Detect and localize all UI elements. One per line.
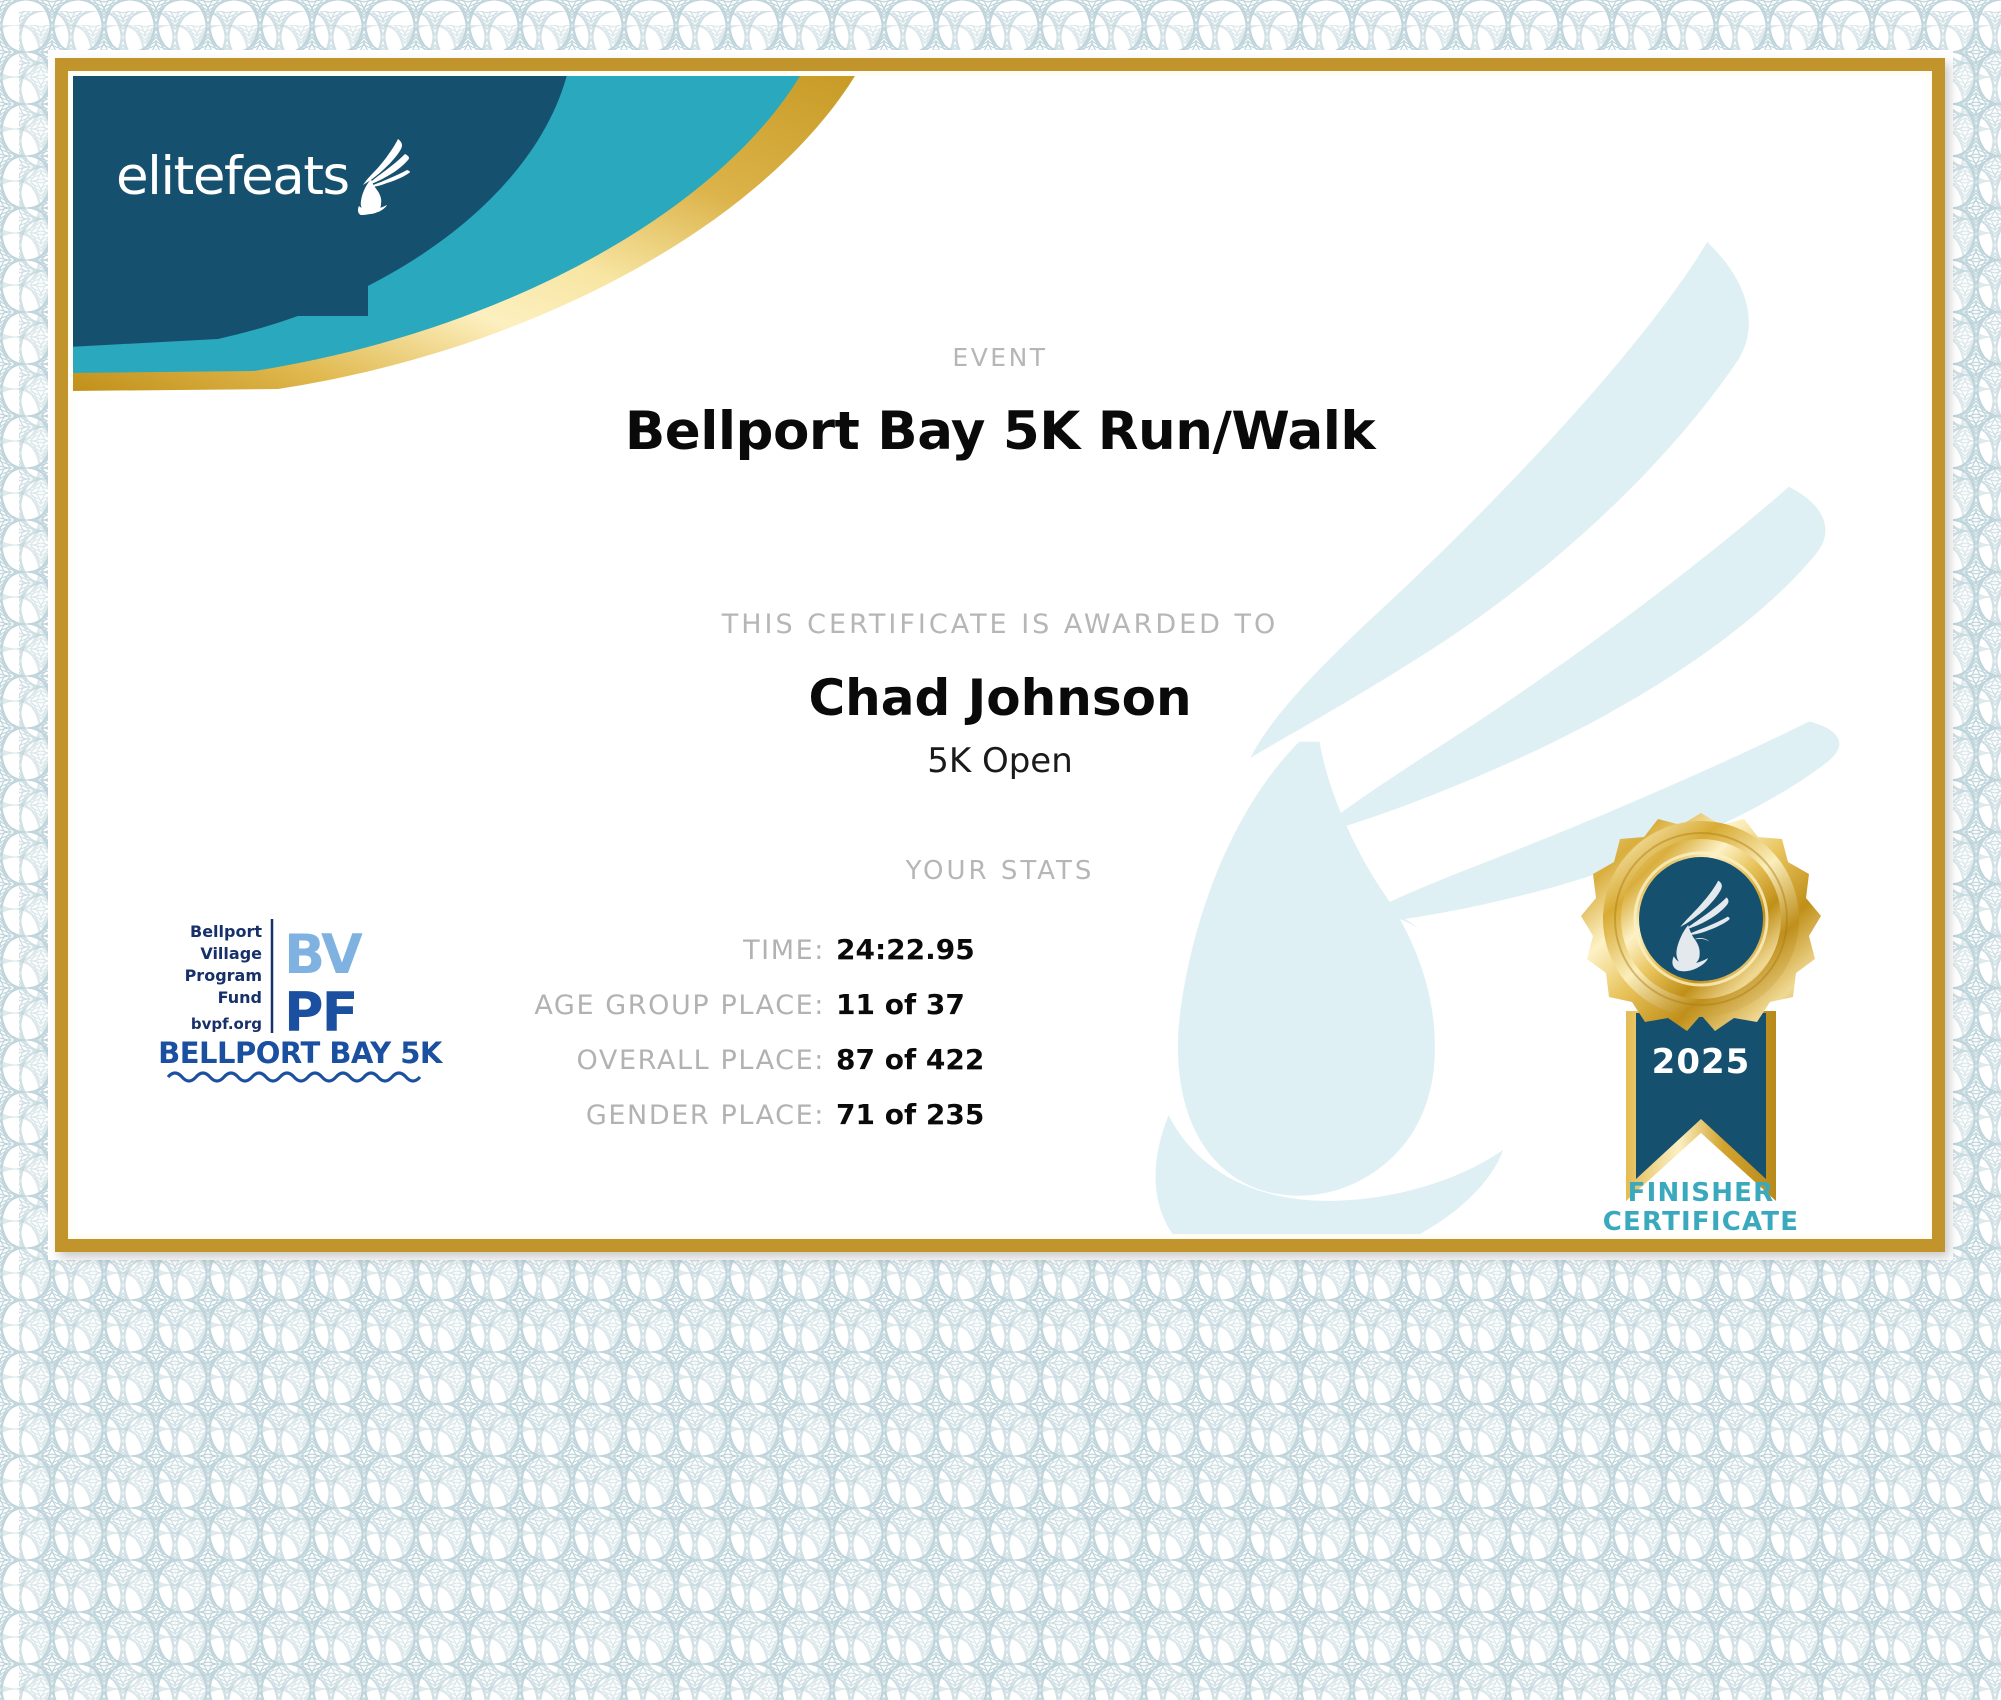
- stat-label-age-group-place: AGE GROUP PLACE:: [534, 990, 825, 1021]
- stats-list: TIME: 24:22.95 AGE GROUP PLACE: 11 of 37…: [398, 933, 1008, 1153]
- stat-value-gender-place: 71 of 235: [836, 1098, 1008, 1131]
- certificate-content: EVENT Bellport Bay 5K Run/Walk THIS CERT…: [68, 71, 1932, 1239]
- svg-text:Village: Village: [200, 944, 262, 963]
- stat-value-time: 24:22.95: [836, 933, 1008, 966]
- stat-label-gender-place: GENDER PLACE:: [586, 1100, 825, 1131]
- awarded-to-label: THIS CERTIFICATE IS AWARDED TO: [68, 609, 1932, 640]
- svg-text:BELLPORT BAY 5K: BELLPORT BAY 5K: [158, 1036, 444, 1070]
- stat-label-overall-place: OVERALL PLACE:: [577, 1045, 825, 1076]
- svg-text:PF: PF: [284, 981, 356, 1044]
- stat-row-overall-place: OVERALL PLACE: 87 of 422: [398, 1043, 1008, 1076]
- stat-row-time: TIME: 24:22.95: [398, 933, 1008, 966]
- svg-text:bvpf.org: bvpf.org: [191, 1015, 262, 1033]
- stat-label-time: TIME:: [743, 935, 825, 966]
- stat-value-overall-place: 87 of 422: [836, 1043, 1008, 1076]
- stat-value-age-group-place: 11 of 37: [836, 988, 1008, 1021]
- sponsor-name-line-1: Bellport: [190, 922, 262, 941]
- svg-text:BV: BV: [284, 923, 363, 986]
- certificate-frame: elitefeats EVENT Bellport Bay 5K Run/Wal…: [55, 58, 1945, 1252]
- recipient-name: Chad Johnson: [68, 669, 1932, 727]
- svg-text:Fund: Fund: [218, 988, 262, 1007]
- stat-row-age-group-place: AGE GROUP PLACE: 11 of 37: [398, 988, 1008, 1021]
- medal-caption-line-1: FINISHER: [1556, 1179, 1846, 1208]
- stat-row-gender-place: GENDER PLACE: 71 of 235: [398, 1098, 1008, 1131]
- bvpf-sponsor-logo: Bellport Village Program Fund bvpf.org B…: [150, 911, 450, 1091]
- svg-text:Program: Program: [185, 966, 262, 985]
- event-name: Bellport Bay 5K Run/Walk: [68, 401, 1932, 462]
- certificate-inner-field: elitefeats EVENT Bellport Bay 5K Run/Wal…: [68, 71, 1932, 1239]
- medal-caption-line-2: CERTIFICATE: [1556, 1208, 1846, 1237]
- event-label: EVENT: [68, 343, 1932, 372]
- certificate-page: elitefeats EVENT Bellport Bay 5K Run/Wal…: [0, 0, 2001, 1700]
- finisher-medal-badge: 2025: [1556, 801, 1846, 1239]
- recipient-division: 5K Open: [68, 741, 1932, 781]
- medal-year: 2025: [1652, 1042, 1751, 1082]
- medal-caption: FINISHER CERTIFICATE: [1556, 1179, 1846, 1237]
